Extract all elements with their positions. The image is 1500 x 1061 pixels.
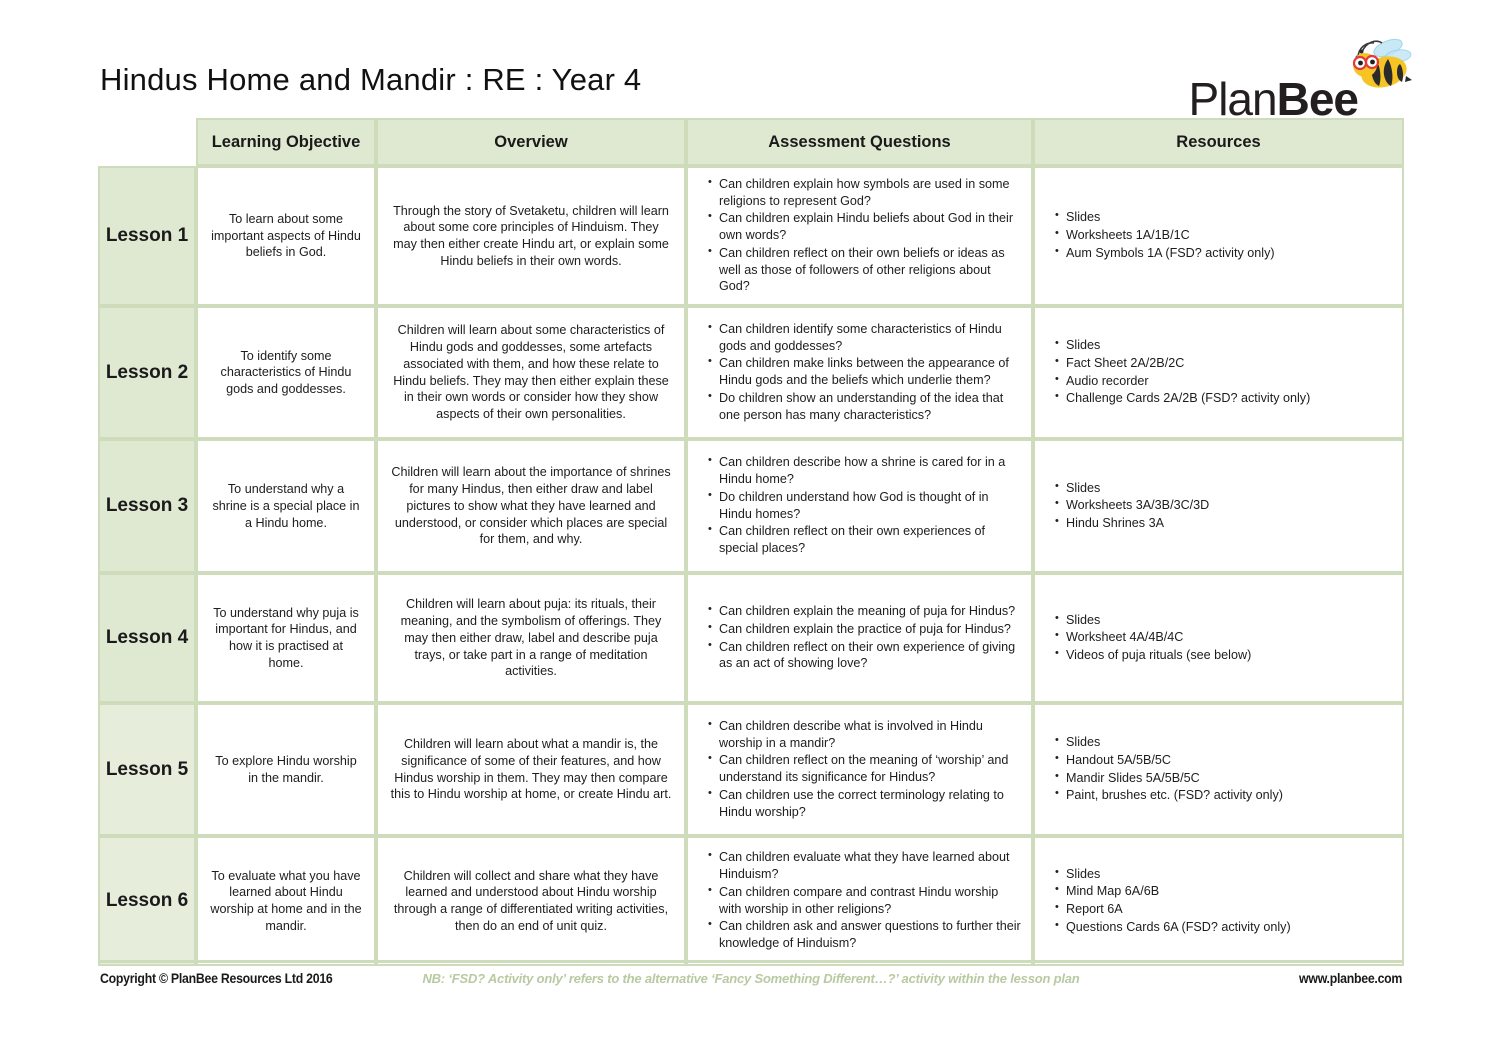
resource-list: Slides Worksheets 3A/3B/3C/3D Hindu Shri… [1041, 480, 1392, 532]
table-body: Lesson 1 To learn about some important a… [98, 166, 1404, 966]
lesson-assessment-questions: Can children describe how a shrine is ca… [686, 439, 1033, 573]
lesson-label: Lesson 5 [98, 703, 196, 836]
list-item: Can children reflect on their own experi… [710, 523, 1021, 556]
table-row: Lesson 2 To identify some characteristic… [98, 306, 1404, 439]
resource-list: Slides Worksheet 4A/4B/4C Videos of puja… [1041, 612, 1392, 664]
list-item: Slides [1057, 480, 1392, 497]
lesson-plan-page: Hindus Home and Mandir : RE : Year 4 Pla… [0, 0, 1500, 1061]
lesson-resources: Slides Worksheet 4A/4B/4C Videos of puja… [1033, 573, 1404, 703]
lesson-objective: To understand why puja is important for … [196, 573, 376, 703]
list-item: Worksheets 1A/1B/1C [1057, 227, 1392, 244]
lesson-assessment-questions: Can children identify some characteristi… [686, 306, 1033, 439]
table-header: Learning Objective Overview Assessment Q… [98, 118, 1404, 166]
list-item: Slides [1057, 734, 1392, 751]
lesson-resources: Slides Mind Map 6A/6B Report 6A Question… [1033, 836, 1404, 966]
lesson-objective: To evaluate what you have learned about … [196, 836, 376, 966]
lesson-assessment-questions: Can children explain the meaning of puja… [686, 573, 1033, 703]
list-item: Can children explain how symbols are use… [710, 176, 1021, 209]
list-item: Challenge Cards 2A/2B (FSD? activity onl… [1057, 390, 1392, 407]
lesson-label: Lesson 2 [98, 306, 196, 439]
lesson-resources: Slides Fact Sheet 2A/2B/2C Audio recorde… [1033, 306, 1404, 439]
list-item: Slides [1057, 866, 1392, 883]
list-item: Worksheets 3A/3B/3C/3D [1057, 497, 1392, 514]
list-item: Do children understand how God is though… [710, 489, 1021, 522]
resource-list: Slides Fact Sheet 2A/2B/2C Audio recorde… [1041, 337, 1392, 407]
list-item: Can children reflect on their own experi… [710, 639, 1021, 672]
list-item: Fact Sheet 2A/2B/2C [1057, 355, 1392, 372]
list-item: Audio recorder [1057, 373, 1392, 390]
list-item: Aum Symbols 1A (FSD? activity only) [1057, 245, 1392, 262]
list-item: Can children identify some characteristi… [710, 321, 1021, 354]
lesson-overview: Children will learn about what a mandir … [376, 703, 686, 836]
list-item: Can children explain the practice of puj… [710, 621, 1021, 638]
lesson-overview: Children will learn about some character… [376, 306, 686, 439]
resource-list: Slides Mind Map 6A/6B Report 6A Question… [1041, 866, 1392, 936]
lesson-objective: To explore Hindu worship in the mandir. [196, 703, 376, 836]
lesson-label: Lesson 4 [98, 573, 196, 703]
website-url[interactable]: www.planbee.com [1299, 970, 1402, 986]
lesson-assessment-questions: Can children describe what is involved i… [686, 703, 1033, 836]
lesson-overview-table: Learning Objective Overview Assessment Q… [98, 118, 1404, 966]
table-row: Lesson 4 To understand why puja is impor… [98, 573, 1404, 703]
assessment-question-list: Can children evaluate what they have lea… [694, 849, 1021, 951]
assessment-question-list: Can children explain the meaning of puja… [694, 603, 1021, 672]
column-header-learning-objective: Learning Objective [196, 118, 376, 166]
list-item: Can children explain the meaning of puja… [710, 603, 1021, 620]
list-item: Questions Cards 6A (FSD? activity only) [1057, 919, 1392, 936]
assessment-question-list: Can children describe how a shrine is ca… [694, 454, 1021, 556]
table-row: Lesson 6 To evaluate what you have learn… [98, 836, 1404, 966]
resource-list: Slides Worksheets 1A/1B/1C Aum Symbols 1… [1041, 209, 1392, 261]
list-item: Slides [1057, 337, 1392, 354]
lesson-objective: To learn about some important aspects of… [196, 166, 376, 306]
lesson-overview: Children will collect and share what the… [376, 836, 686, 966]
lesson-objective: To understand why a shrine is a special … [196, 439, 376, 573]
list-item: Can children ask and answer questions to… [710, 918, 1021, 951]
document-header: Hindus Home and Mandir : RE : Year 4 Pla… [100, 62, 1410, 118]
list-item: Can children make links between the appe… [710, 355, 1021, 388]
table-row: Lesson 1 To learn about some important a… [98, 166, 1404, 306]
document-footer: Copyright © PlanBee Resources Ltd 2016 N… [98, 960, 1404, 994]
list-item: Paint, brushes etc. (FSD? activity only) [1057, 787, 1392, 804]
list-item: Can children describe what is involved i… [710, 718, 1021, 751]
list-item: Handout 5A/5B/5C [1057, 752, 1392, 769]
bee-icon [1342, 36, 1414, 98]
lesson-label: Lesson 3 [98, 439, 196, 573]
list-item: Videos of puja rituals (see below) [1057, 647, 1392, 664]
resource-list: Slides Handout 5A/5B/5C Mandir Slides 5A… [1041, 734, 1392, 804]
assessment-question-list: Can children explain how symbols are use… [694, 176, 1021, 295]
table-row: Lesson 5 To explore Hindu worship in the… [98, 703, 1404, 836]
lesson-assessment-questions: Can children evaluate what they have lea… [686, 836, 1033, 966]
list-item: Slides [1057, 612, 1392, 629]
footer-divider [98, 960, 1404, 963]
list-item: Can children reflect on the meaning of ‘… [710, 752, 1021, 785]
lesson-overview: Through the story of Svetaketu, children… [376, 166, 686, 306]
lesson-overview: Children will learn about the importance… [376, 439, 686, 573]
list-item: Can children compare and contrast Hindu … [710, 884, 1021, 917]
list-item: Worksheet 4A/4B/4C [1057, 629, 1392, 646]
lesson-resources: Slides Worksheets 1A/1B/1C Aum Symbols 1… [1033, 166, 1404, 306]
lesson-objective: To identify some characteristics of Hind… [196, 306, 376, 439]
assessment-question-list: Can children identify some characteristi… [694, 321, 1021, 423]
list-item: Can children evaluate what they have lea… [710, 849, 1021, 882]
column-header-resources: Resources [1033, 118, 1404, 166]
lesson-label: Lesson 6 [98, 836, 196, 966]
list-item: Mandir Slides 5A/5B/5C [1057, 770, 1392, 787]
page-title: Hindus Home and Mandir : RE : Year 4 [100, 62, 641, 98]
lesson-resources: Slides Handout 5A/5B/5C Mandir Slides 5A… [1033, 703, 1404, 836]
assessment-question-list: Can children describe what is involved i… [694, 718, 1021, 820]
lesson-label: Lesson 1 [98, 166, 196, 306]
table-corner-cell [98, 118, 196, 166]
lesson-assessment-questions: Can children explain how symbols are use… [686, 166, 1033, 306]
column-header-overview: Overview [376, 118, 686, 166]
list-item: Can children reflect on their own belief… [710, 245, 1021, 295]
lesson-resources: Slides Worksheets 3A/3B/3C/3D Hindu Shri… [1033, 439, 1404, 573]
list-item: Slides [1057, 209, 1392, 226]
list-item: Do children show an understanding of the… [710, 390, 1021, 423]
fsd-note-text: NB: ‘FSD? Activity only’ refers to the a… [98, 971, 1404, 986]
planbee-logo: PlanBee [1150, 34, 1410, 130]
lesson-overview: Children will learn about puja: its ritu… [376, 573, 686, 703]
list-item: Can children describe how a shrine is ca… [710, 454, 1021, 487]
list-item: Can children use the correct terminology… [710, 787, 1021, 820]
list-item: Can children explain Hindu beliefs about… [710, 210, 1021, 243]
list-item: Report 6A [1057, 901, 1392, 918]
list-item: Mind Map 6A/6B [1057, 883, 1392, 900]
table-header-row: Learning Objective Overview Assessment Q… [98, 118, 1404, 166]
table-row: Lesson 3 To understand why a shrine is a… [98, 439, 1404, 573]
column-header-assessment-questions: Assessment Questions [686, 118, 1033, 166]
list-item: Hindu Shrines 3A [1057, 515, 1392, 532]
